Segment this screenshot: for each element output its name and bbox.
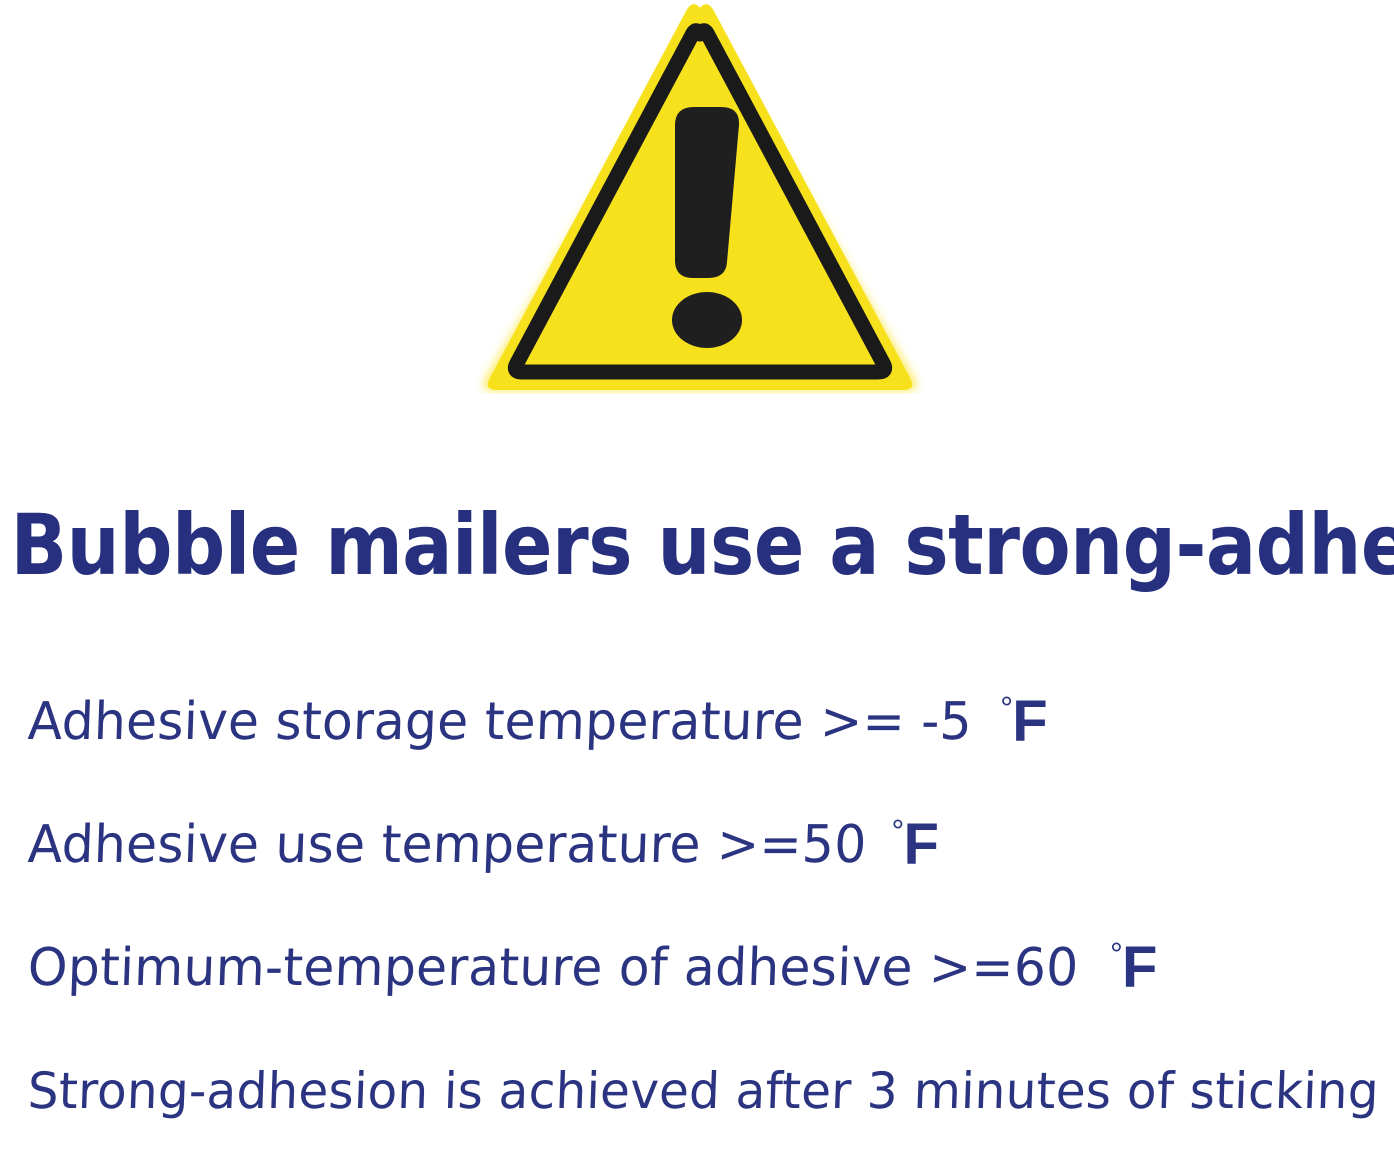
spec-line-storage-temperature: Adhesive storage temperature >= -5°F <box>0 666 1394 789</box>
spec-text: Adhesive use temperature >=50 <box>26 791 868 899</box>
temperature-unit: F <box>904 812 939 877</box>
spec-line-adhesion-time: Strong-adhesion is achieved after 3 minu… <box>0 1035 1394 1158</box>
spec-line-use-temperature: Adhesive use temperature >=50°F <box>0 789 1394 912</box>
infographic-page: Bubble mailers use a strong-adhesive Adh… <box>0 0 1394 1136</box>
page-title: Bubble mailers use a strong-adhesive <box>10 497 1383 593</box>
spec-text: Optimum-temperature of adhesive >=60 <box>26 914 1080 1022</box>
spec-list: Adhesive storage temperature >= -5°F Adh… <box>0 666 1394 1158</box>
warning-triangle-exclamation-icon <box>455 0 925 394</box>
temperature-unit: F <box>1012 689 1047 754</box>
spec-text: Adhesive storage temperature >= -5 <box>26 668 974 776</box>
spec-text: Strong-adhesion is achieved after 3 minu… <box>26 1037 1381 1145</box>
exclamation-dot <box>672 292 742 348</box>
spec-line-optimum-temperature: Optimum-temperature of adhesive >=60°F <box>0 912 1394 1035</box>
degree-symbol: ° <box>892 813 905 849</box>
temperature-unit: F <box>1122 935 1157 1000</box>
